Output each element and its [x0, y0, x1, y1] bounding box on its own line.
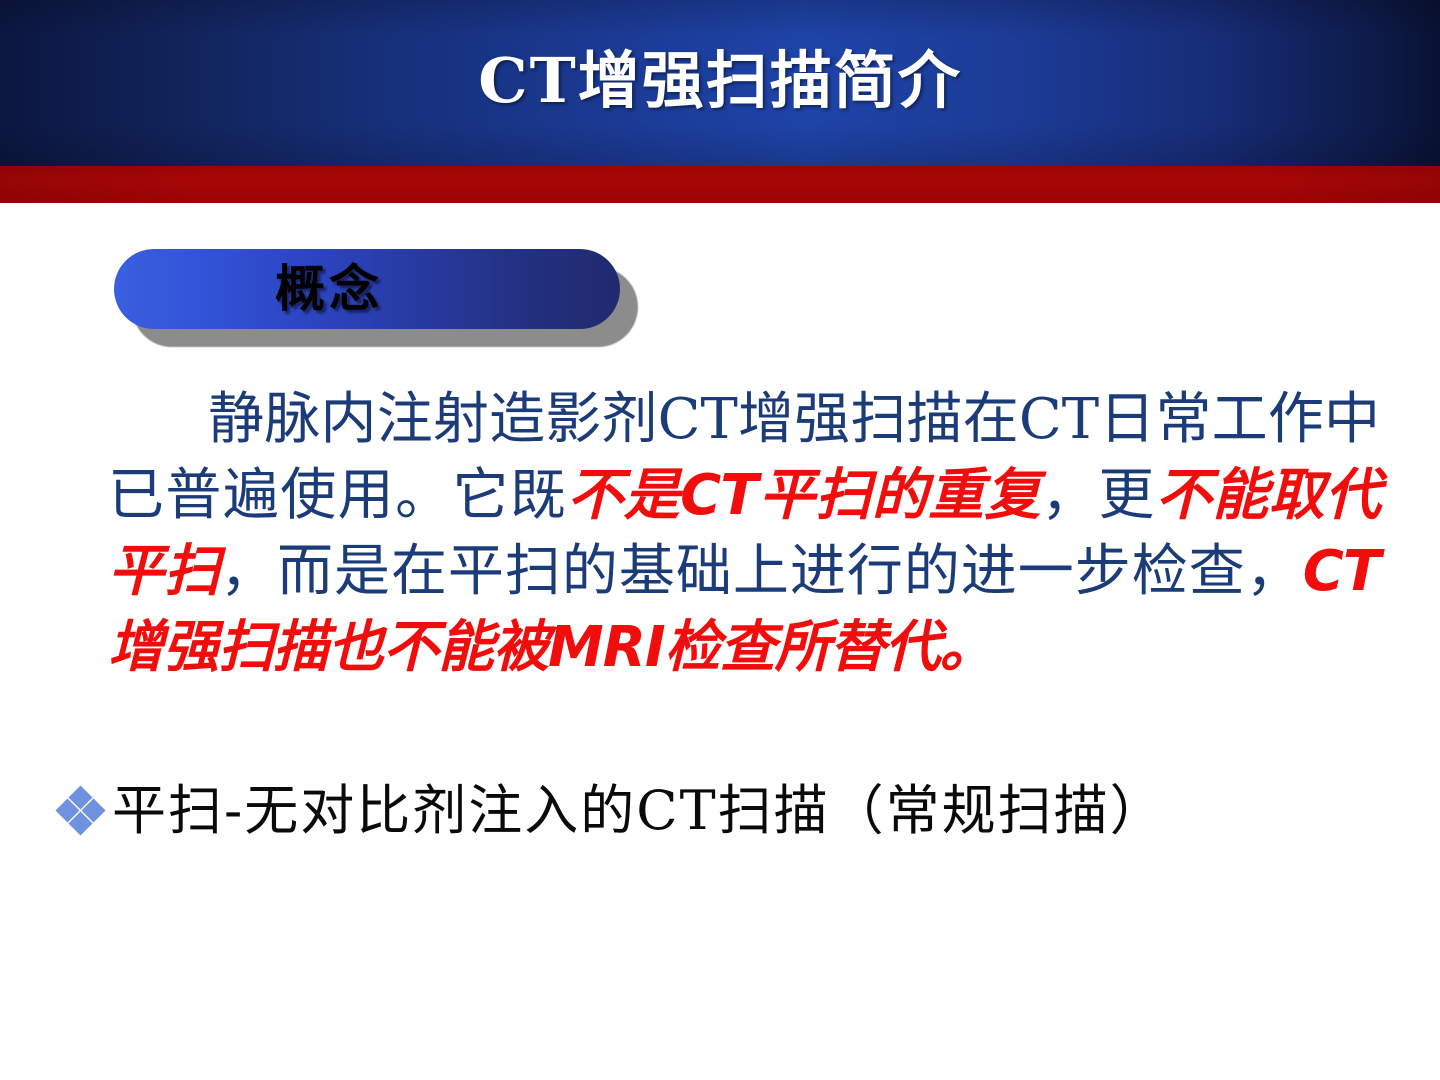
paragraph-run-2-emphasis: 不是CT平扫的重复 [567, 463, 1041, 528]
accent-divider-bar-shading [0, 166, 1440, 203]
paragraph-run-5: ，而是在平扫的基础上进行的进一步检查， [220, 539, 1303, 604]
paragraph-run-3: ，更 [1041, 463, 1156, 528]
section-heading-pill-label: 概念 [275, 262, 383, 316]
page-title: CT增强扫描简介 [0, 44, 1440, 118]
section-heading-pill-body[interactable]: 概念 [114, 249, 620, 329]
diamond-cluster-bullet-icon [58, 788, 104, 834]
list-item-label: 平扫-无对比剂注入的CT扫描（常规扫描） [112, 778, 1166, 844]
body-paragraph: 静脉内注射造影剂CT增强扫描在CT日常工作中已普遍使用。它既不是CT平扫的重复，… [108, 382, 1380, 686]
list-item: 平扫-无对比剂注入的CT扫描（常规扫描） [58, 778, 1398, 844]
section-heading-pill[interactable]: 概念 [114, 249, 654, 354]
slide-canvas: CT增强扫描简介 概念 静脉内注射造影剂CT增强扫描在CT日常工作中已普遍使用。… [0, 0, 1440, 1080]
